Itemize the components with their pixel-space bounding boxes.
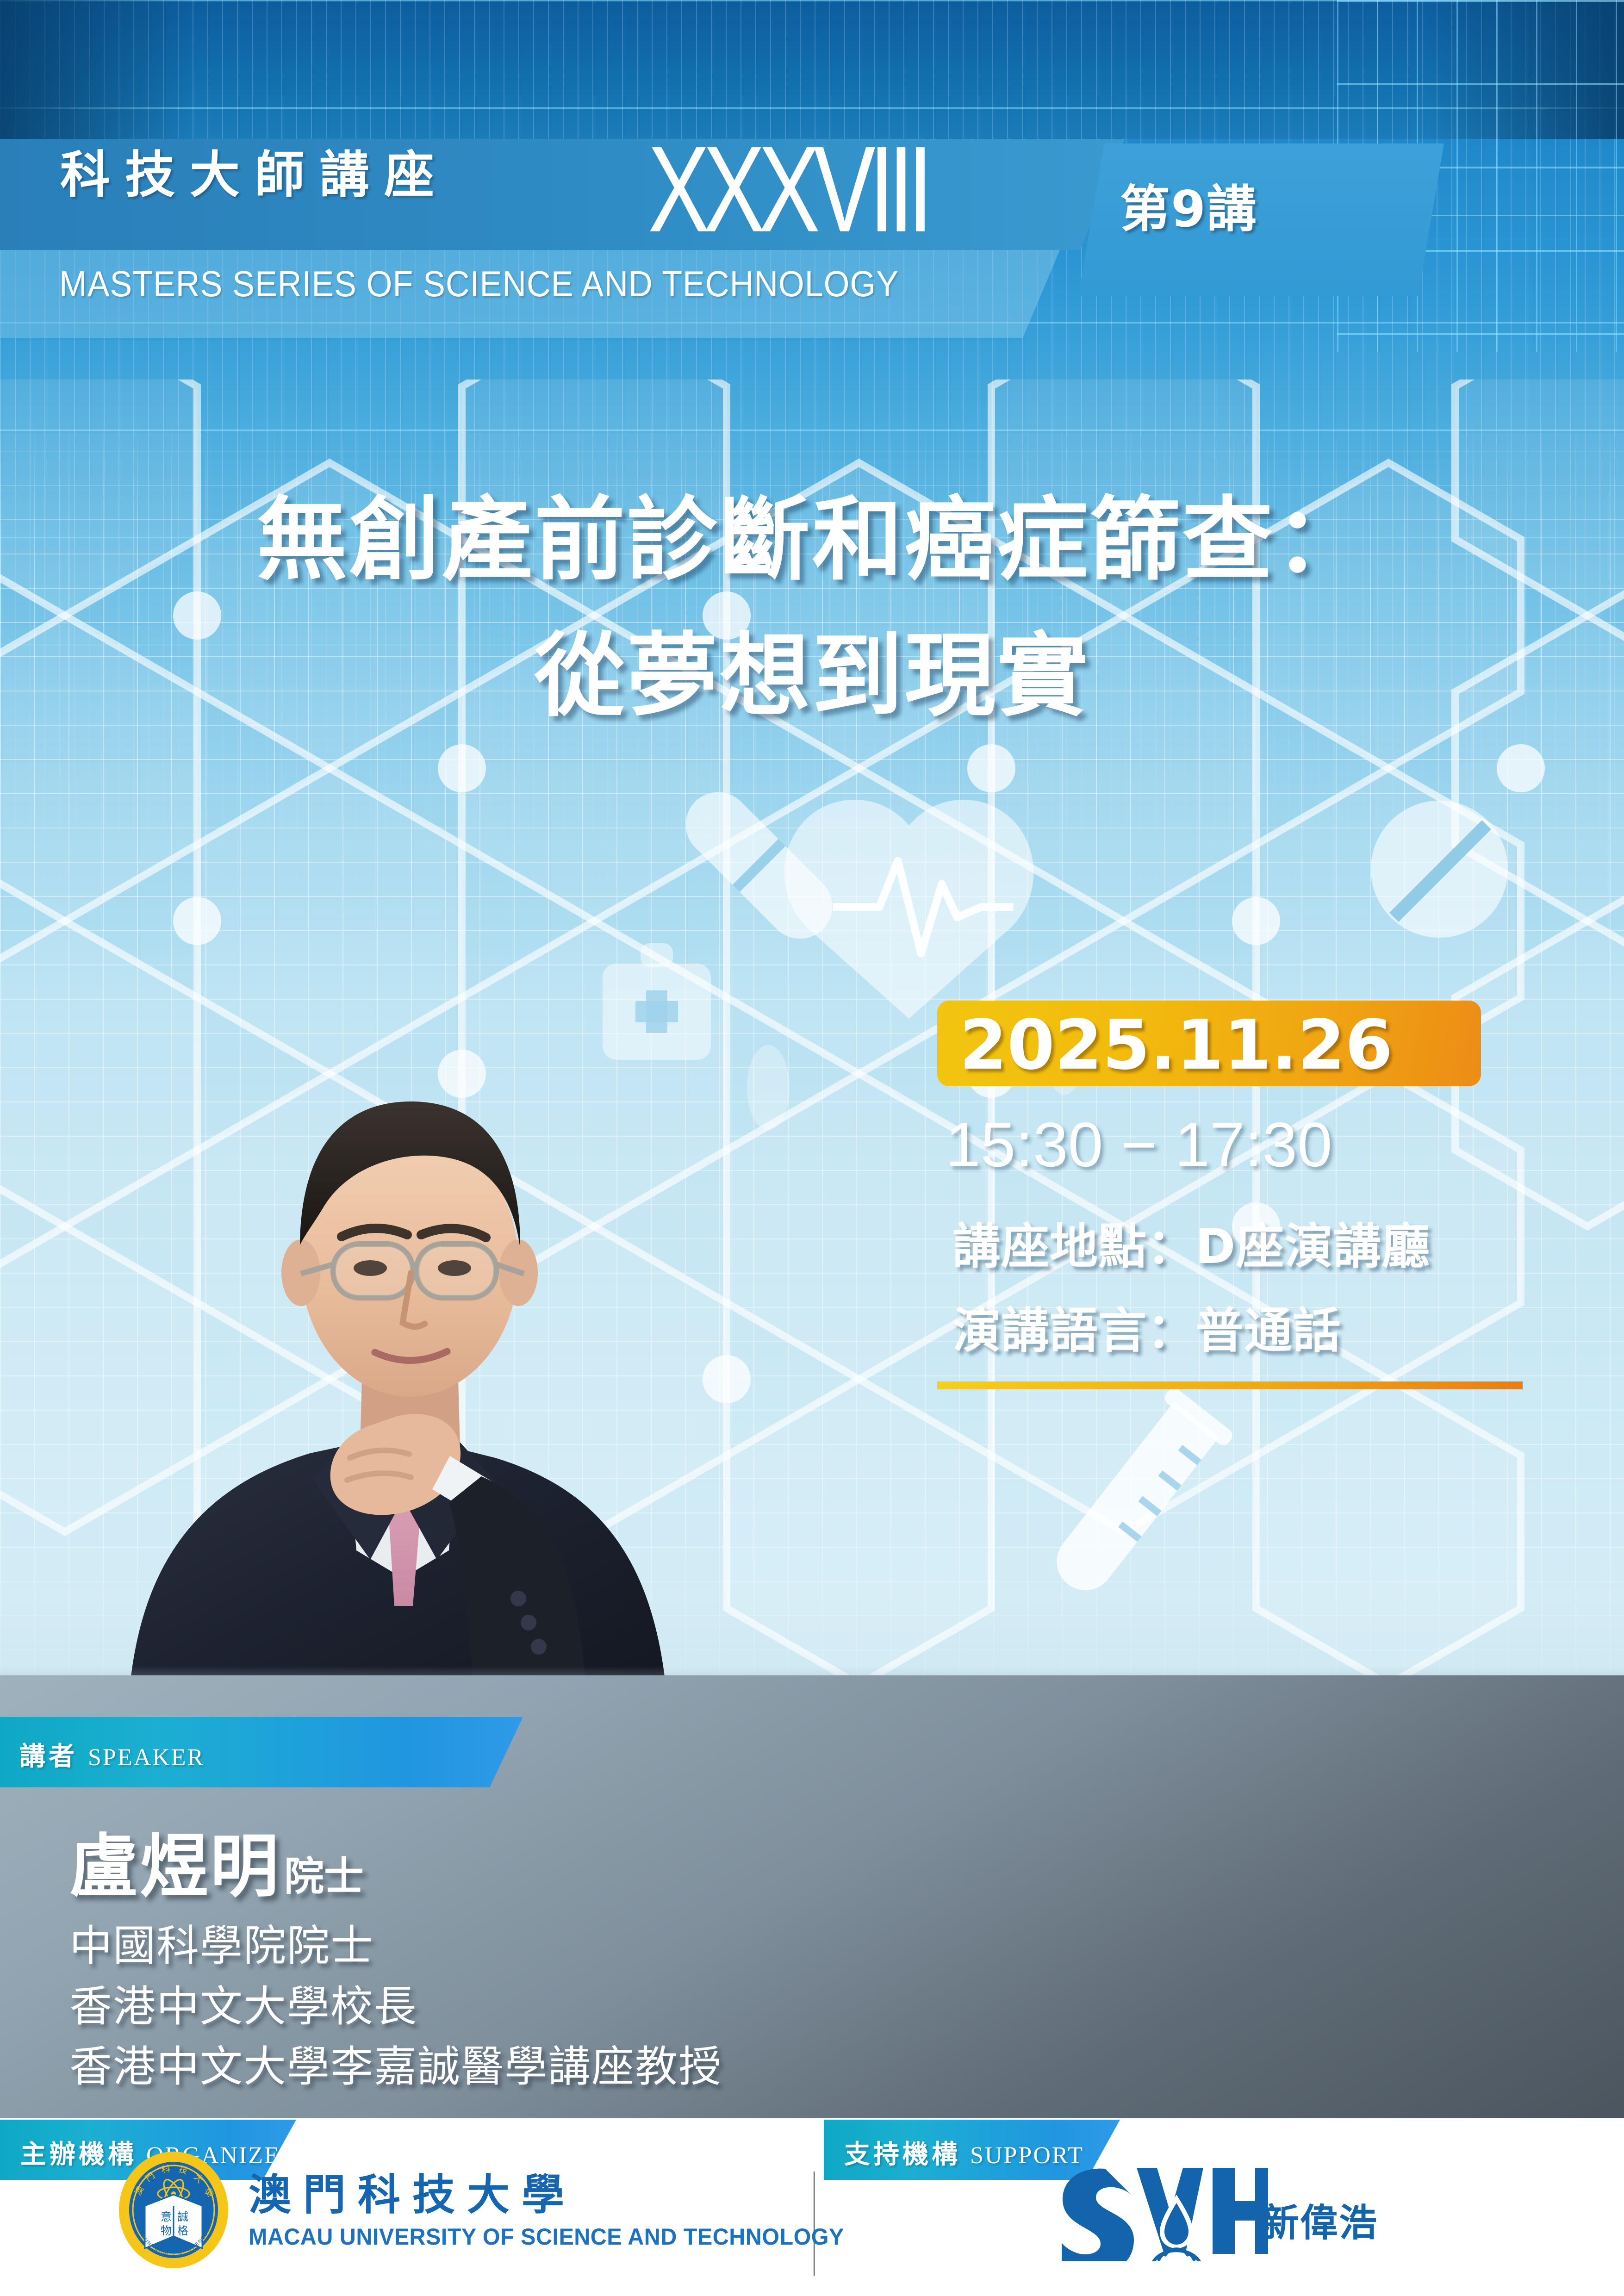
- organizer-logo: 意 物 誠 格 澳 門 科 技 大 學 MACAU UNIVERSITY OF …: [118, 2141, 687, 2280]
- speaker-name-suffix: 院士: [284, 1844, 364, 1902]
- event-language: 演講語言：普通話: [952, 1291, 1341, 1361]
- speaker-name-block: 盧煜明 院士: [69, 1811, 364, 1910]
- event-date-badge: 2025.11.26: [937, 1001, 1481, 1086]
- event-venue: 講座地點：D座演講廳: [952, 1207, 1430, 1277]
- organizer-name-en: MACAU UNIVERSITY OF SCIENCE AND TECHNOLO…: [249, 2223, 844, 2250]
- lecture-title-line1: 無創產前診斷和癌症篩查：: [256, 487, 1367, 593]
- speaker-name: 盧煜明: [69, 1811, 280, 1910]
- speaker-ribbon-label: 講者 SPEAKER: [19, 1736, 205, 1773]
- support-ribbon-label: 支持機構 SUPPORT: [844, 2134, 1084, 2171]
- svg-text:物: 物: [161, 2224, 172, 2237]
- lecture-title: 無創產前診斷和癌症篩查： 從夢想到現實: [0, 472, 1624, 744]
- must-seal-icon: 意 物 誠 格 澳 門 科 技 大 學 MACAU UNIVERSITY OF …: [118, 2151, 229, 2269]
- speaker-ribbon: 講者 SPEAKER: [0, 1717, 523, 1787]
- svg-text:誠: 誠: [177, 2210, 188, 2223]
- speaker-affiliations: 中國科學院院士 香港中文大學校長 香港中文大學李嘉誠醫學講座教授: [69, 1916, 722, 2097]
- swh-wordmark-icon: [1051, 2155, 1268, 2261]
- info-divider-rule: [937, 1381, 1523, 1389]
- support-ribbon-cn: 支持機構: [844, 2134, 961, 2171]
- series-title-cn: 科技大師講座: [60, 149, 449, 201]
- support-logo: 新偉浩: [1051, 2155, 1412, 2271]
- speaker-affiliation-2: 香港中文大學校長: [69, 1977, 722, 2037]
- speaker-ribbon-en: SPEAKER: [88, 1744, 205, 1771]
- series-roman-numeral: XXXVIII: [648, 129, 927, 251]
- speaker-portrait: [51, 949, 745, 1726]
- speaker-affiliation-3: 香港中文大學李嘉誠醫學講座教授: [69, 2037, 722, 2097]
- support-name-cn: 新偉浩: [1261, 2192, 1378, 2247]
- event-date-text: 2025.11.26: [959, 1005, 1393, 1085]
- event-time: 15:30 − 17:30: [946, 1108, 1332, 1181]
- session-badge-label: 第9講: [1120, 169, 1416, 241]
- poster-canvas: 科技大師講座 XXXVIII MASTERS SERIES OF SCIENCE…: [0, 0, 1624, 2296]
- speaker-affiliation-1: 中國科學院院士: [69, 1916, 722, 1977]
- speaker-ribbon-cn: 講者: [19, 1736, 78, 1773]
- svg-text:意: 意: [161, 2210, 172, 2223]
- series-title-en: MASTERS SERIES OF SCIENCE AND TECHNOLOGY: [59, 263, 899, 305]
- organizer-name-cn: 澳門科技大學: [249, 2160, 576, 2222]
- svg-text:格: 格: [177, 2224, 188, 2237]
- lecture-title-line2: 從夢想到現實: [0, 608, 1624, 744]
